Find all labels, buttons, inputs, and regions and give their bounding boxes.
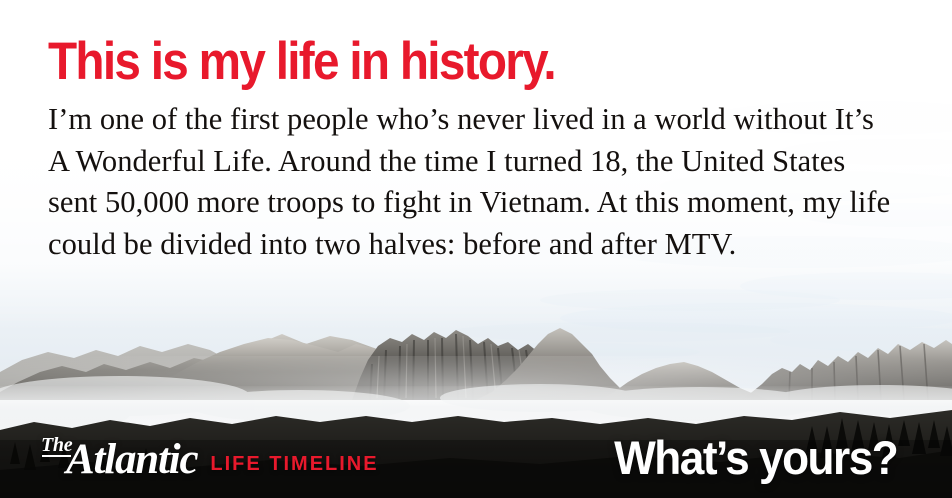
- life-timeline-card: This is my life in history. I’m one of t…: [0, 0, 952, 498]
- atlantic-logo[interactable]: The Atlantic LIFE TIMELINE: [40, 438, 379, 482]
- body-paragraph: I’m one of the first people who’s never …: [48, 99, 893, 265]
- whats-yours-cta[interactable]: What’s yours?: [614, 432, 897, 484]
- brand-bar: The Atlantic LIFE TIMELINE What’s yours?: [0, 402, 952, 498]
- editorial-copy: This is my life in history. I’m one of t…: [48, 34, 908, 265]
- atlantic-wordmark[interactable]: The Atlantic: [40, 438, 197, 482]
- page-title: This is my life in history.: [48, 34, 822, 89]
- atlantic-the-word: The: [41, 435, 72, 455]
- life-timeline-tagline: LIFE TIMELINE: [210, 453, 378, 482]
